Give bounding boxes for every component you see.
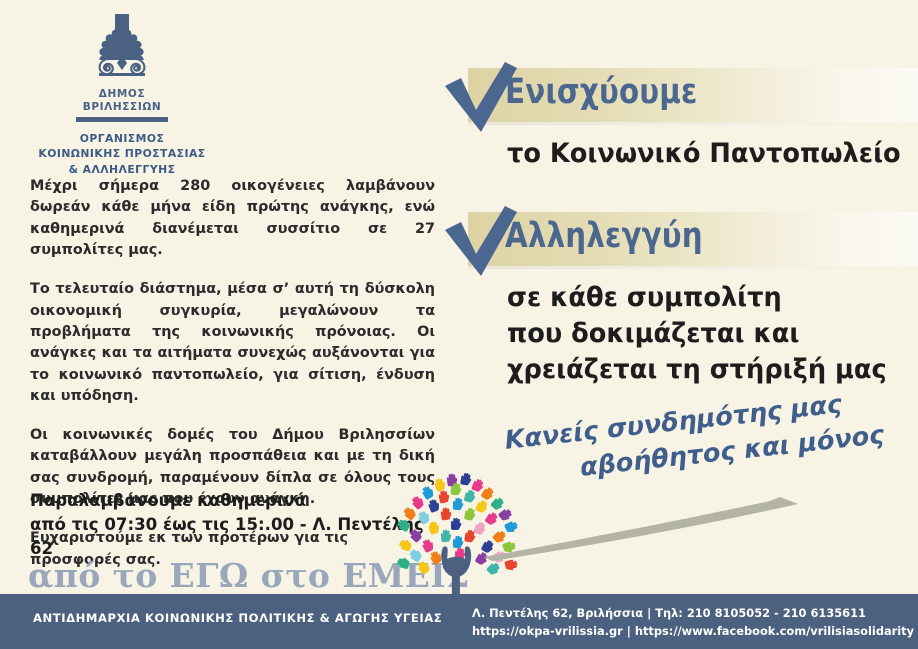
body-paragraph-2: Το τελευταίο διάστημα, μέσα σ’ αυτή τη δ… [30, 279, 435, 407]
swoosh-curve-icon [480, 495, 900, 585]
pickup-hours: Παραλαμβάνουμε καθημερινά από τις 07:30 … [30, 489, 430, 561]
footer-contact-line-1: Λ. Πεντέλης 62, Βριλήσσια | Τηλ: 210 810… [472, 604, 914, 622]
heading-sub-2-line-2: που δοκιμάζεται και [507, 316, 887, 352]
poster-canvas: ΔΗΜΟΣ ΒΡΙΛΗΣΣΙΩΝ ΟΡΓΑΝΙΣΜΟΣ ΚΟΙΝΩΝΙΚΗΣ Π… [0, 0, 918, 649]
organization-name: ΟΡΓΑΝΙΣΜΟΣ ΚΟΙΝΩΝΙΚΗΣ ΠΡΟΣΤΑΣΙΑΣ & ΑΛΛΗΛ… [22, 131, 222, 178]
heading-sub-2: σε κάθε συμπολίτη που δοκιμάζεται και χρ… [507, 280, 887, 389]
heading-sub-1-line-1: το Κοινωνικό Παντοπωλείο [507, 136, 901, 172]
logo-divider [76, 117, 168, 122]
palmette-anthemion-icon [85, 14, 159, 86]
municipality-line-1: ΔΗΜΟΣ [22, 88, 222, 101]
footer-contact: Λ. Πεντέλης 62, Βριλήσσια | Τηλ: 210 810… [472, 604, 914, 640]
organization-logo: ΔΗΜΟΣ ΒΡΙΛΗΣΣΙΩΝ ΟΡΓΑΝΙΣΜΟΣ ΚΟΙΝΩΝΙΚΗΣ Π… [22, 14, 222, 178]
organization-line-1: ΟΡΓΑΝΙΣΜΟΣ [22, 131, 222, 147]
body-paragraph-1: Μέχρι σήμερα 280 οικογένειες λαμβάνουν δ… [30, 176, 435, 261]
heading-kicker-2: Αλληλεγγύη [505, 216, 703, 256]
footer-department: ΑΝΤΙΔΗΜΑΡΧΙΑ ΚΟΙΝΩΝΙΚΗΣ ΠΟΛΙΤΙΚΗΣ & ΑΓΩΓ… [33, 611, 442, 625]
campaign-slogan: Κανείς συνδημότης μας αβοήθητος και μόνο… [503, 382, 898, 494]
heading-sub-2-line-1: σε κάθε συμπολίτη [507, 280, 887, 316]
footer-bar: ΑΝΤΙΔΗΜΑΡΧΙΑ ΚΟΙΝΩΝΙΚΗΣ ΠΟΛΙΤΙΚΗΣ & ΑΓΩΓ… [0, 594, 918, 649]
pickup-line-2: από τις 07:30 έως τις 15:.00 - Λ. Πεντέλ… [30, 513, 430, 561]
footer-contact-line-2[interactable]: https://okpa-vrilissia.gr | https://www.… [472, 622, 914, 640]
municipality-name: ΔΗΜΟΣ ΒΡΙΛΗΣΣΙΩΝ [22, 88, 222, 114]
organization-line-2: ΚΟΙΝΩΝΙΚΗΣ ΠΡΟΣΤΑΣΙΑΣ [22, 146, 222, 162]
municipality-line-2: ΒΡΙΛΗΣΣΙΩΝ [22, 101, 222, 114]
pickup-line-1: Παραλαμβάνουμε καθημερινά [30, 489, 430, 513]
heading-sub-1: το Κοινωνικό Παντοπωλείο [507, 136, 901, 172]
heading-kicker-1: Ενισχύουμε [505, 72, 697, 112]
heading-sub-2-line-3: χρειάζεται τη στήριξή μας [507, 352, 887, 388]
